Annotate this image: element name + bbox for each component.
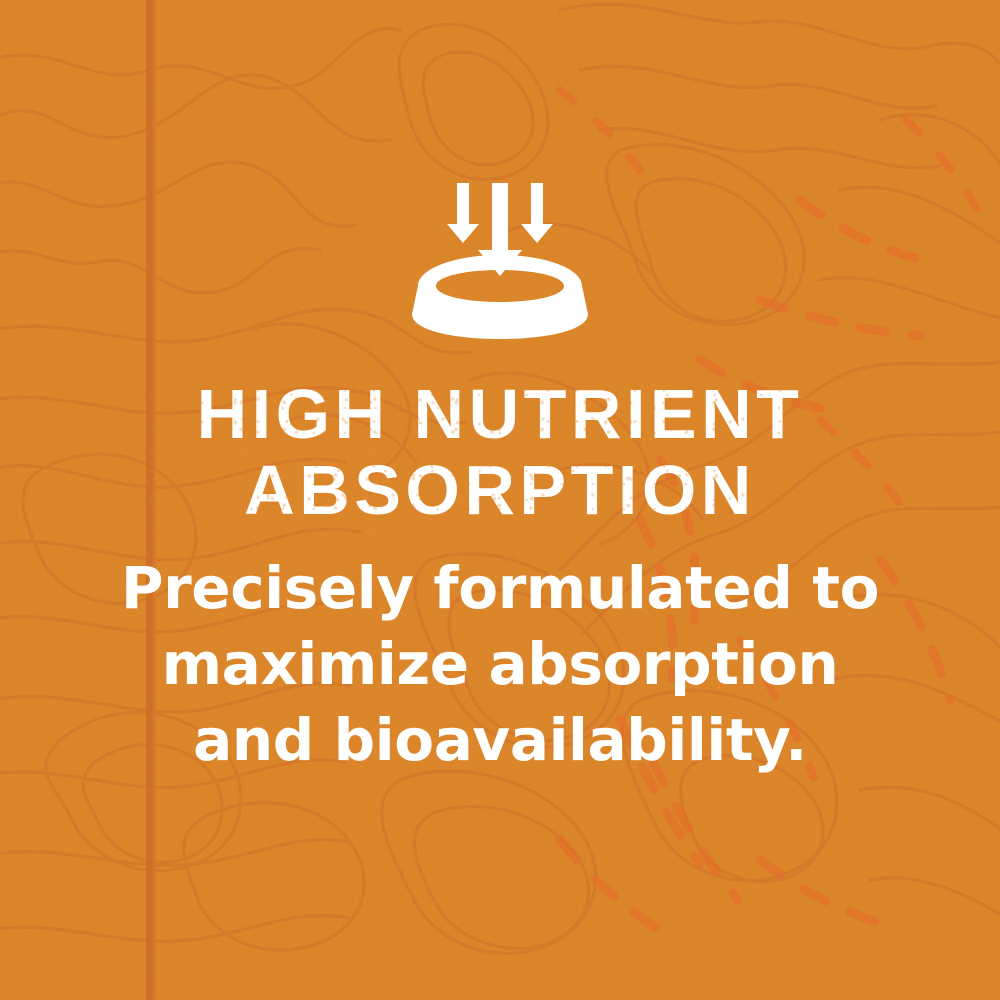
page-title: HIGH NUTRIENT ABSORPTION bbox=[50, 376, 950, 528]
headline-line-1: HIGH NUTRIENT bbox=[50, 376, 950, 452]
body-copy: Precisely formulated to maximize absorpt… bbox=[50, 550, 950, 778]
food-bowl-shape bbox=[412, 255, 588, 339]
icon-container bbox=[400, 172, 600, 342]
promo-card: HIGH NUTRIENT ABSORPTION Precisely formu… bbox=[0, 0, 1000, 1000]
pet-bowl-with-down-arrows-icon bbox=[400, 172, 600, 342]
down-arrow-left bbox=[447, 183, 479, 243]
down-arrow-right bbox=[521, 183, 553, 243]
body-line-1: Precisely formulated to bbox=[50, 550, 950, 626]
headline-line-2: ABSORPTION bbox=[50, 452, 950, 528]
card-content: HIGH NUTRIENT ABSORPTION Precisely formu… bbox=[0, 0, 1000, 1000]
body-line-3: and bioavailability. bbox=[50, 702, 950, 778]
body-line-2: maximize absorption bbox=[50, 626, 950, 702]
